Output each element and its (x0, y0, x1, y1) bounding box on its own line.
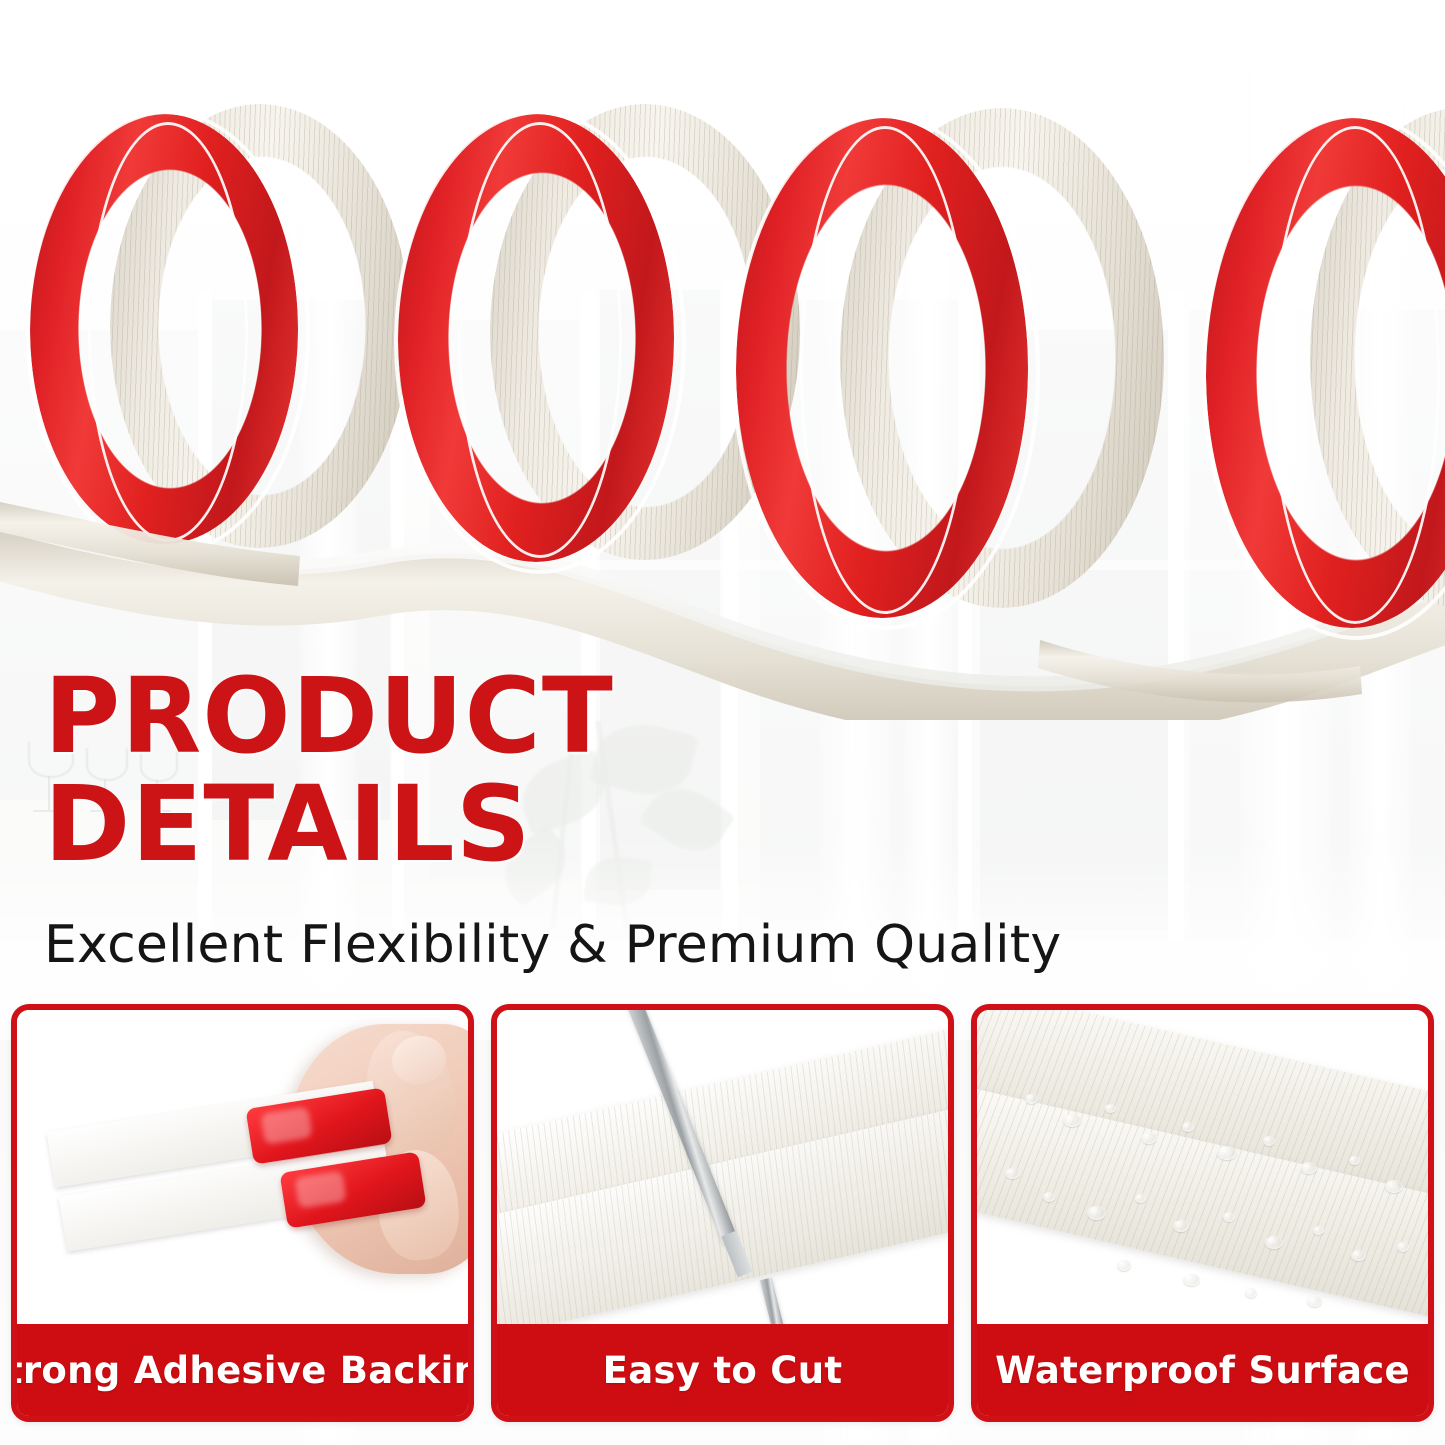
feature-caption-text: Easy to Cut (603, 1349, 843, 1392)
page-title: PRODUCT DETAILS (44, 662, 614, 878)
feature-panel-row: Strong Adhesive Backing Easy to Cut (11, 1004, 1434, 1422)
water-droplet (1301, 1162, 1317, 1174)
feature-image-cut (497, 1010, 948, 1324)
feature-card-waterproof[interactable]: Waterproof Surface (971, 1004, 1434, 1422)
water-droplet (1349, 1156, 1360, 1165)
coil-edge-highlight (394, 110, 686, 574)
title-line-product: PRODUCT (44, 662, 614, 770)
product-detail-card: PRODUCT DETAILS Excellent Flexibility & … (0, 0, 1445, 1445)
water-droplet (1005, 1168, 1020, 1179)
coil-edge-highlight (26, 110, 310, 556)
feature-caption-bar-waterproof: Waterproof Surface (977, 1324, 1428, 1416)
hero-product-image (0, 0, 1445, 720)
water-droplet (1173, 1220, 1189, 1232)
feature-card-adhesive[interactable]: Strong Adhesive Backing (11, 1004, 474, 1422)
feature-caption-bar-cut: Easy to Cut (497, 1324, 948, 1416)
water-droplet (1263, 1136, 1275, 1146)
title-line-details: DETAILS (44, 770, 614, 878)
water-droplet (1307, 1296, 1322, 1307)
water-droplet (1087, 1206, 1106, 1220)
water-droplet (1313, 1226, 1324, 1235)
feature-caption-text: Strong Adhesive Backing (11, 1349, 474, 1392)
water-droplet (1117, 1260, 1131, 1271)
water-droplet (1141, 1132, 1157, 1144)
water-droplet (1385, 1180, 1403, 1193)
water-droplet (1135, 1194, 1146, 1203)
water-droplet (1043, 1192, 1055, 1202)
feature-card-cut[interactable]: Easy to Cut (491, 1004, 954, 1422)
coil-edge-highlight (732, 114, 1040, 630)
water-droplet (1182, 1122, 1194, 1132)
water-droplet (1245, 1288, 1257, 1298)
water-droplet (1397, 1242, 1409, 1252)
water-droplet (1351, 1250, 1366, 1261)
blade-shaft-lower (760, 1277, 786, 1324)
water-droplet (1217, 1146, 1237, 1160)
water-droplet (1063, 1114, 1081, 1127)
feature-image-adhesive (17, 1010, 468, 1324)
water-droplet (1183, 1274, 1200, 1286)
water-droplet (1265, 1236, 1283, 1249)
water-droplet (1105, 1104, 1116, 1113)
feature-image-waterproof (977, 1010, 1428, 1324)
feature-caption-bar-adhesive: Strong Adhesive Backing (17, 1324, 468, 1416)
water-droplet (1223, 1212, 1235, 1222)
feature-caption-text: Waterproof Surface (995, 1349, 1410, 1392)
page-subtitle: Excellent Flexibility & Premium Quality (44, 916, 1061, 974)
water-droplet (1025, 1094, 1038, 1104)
